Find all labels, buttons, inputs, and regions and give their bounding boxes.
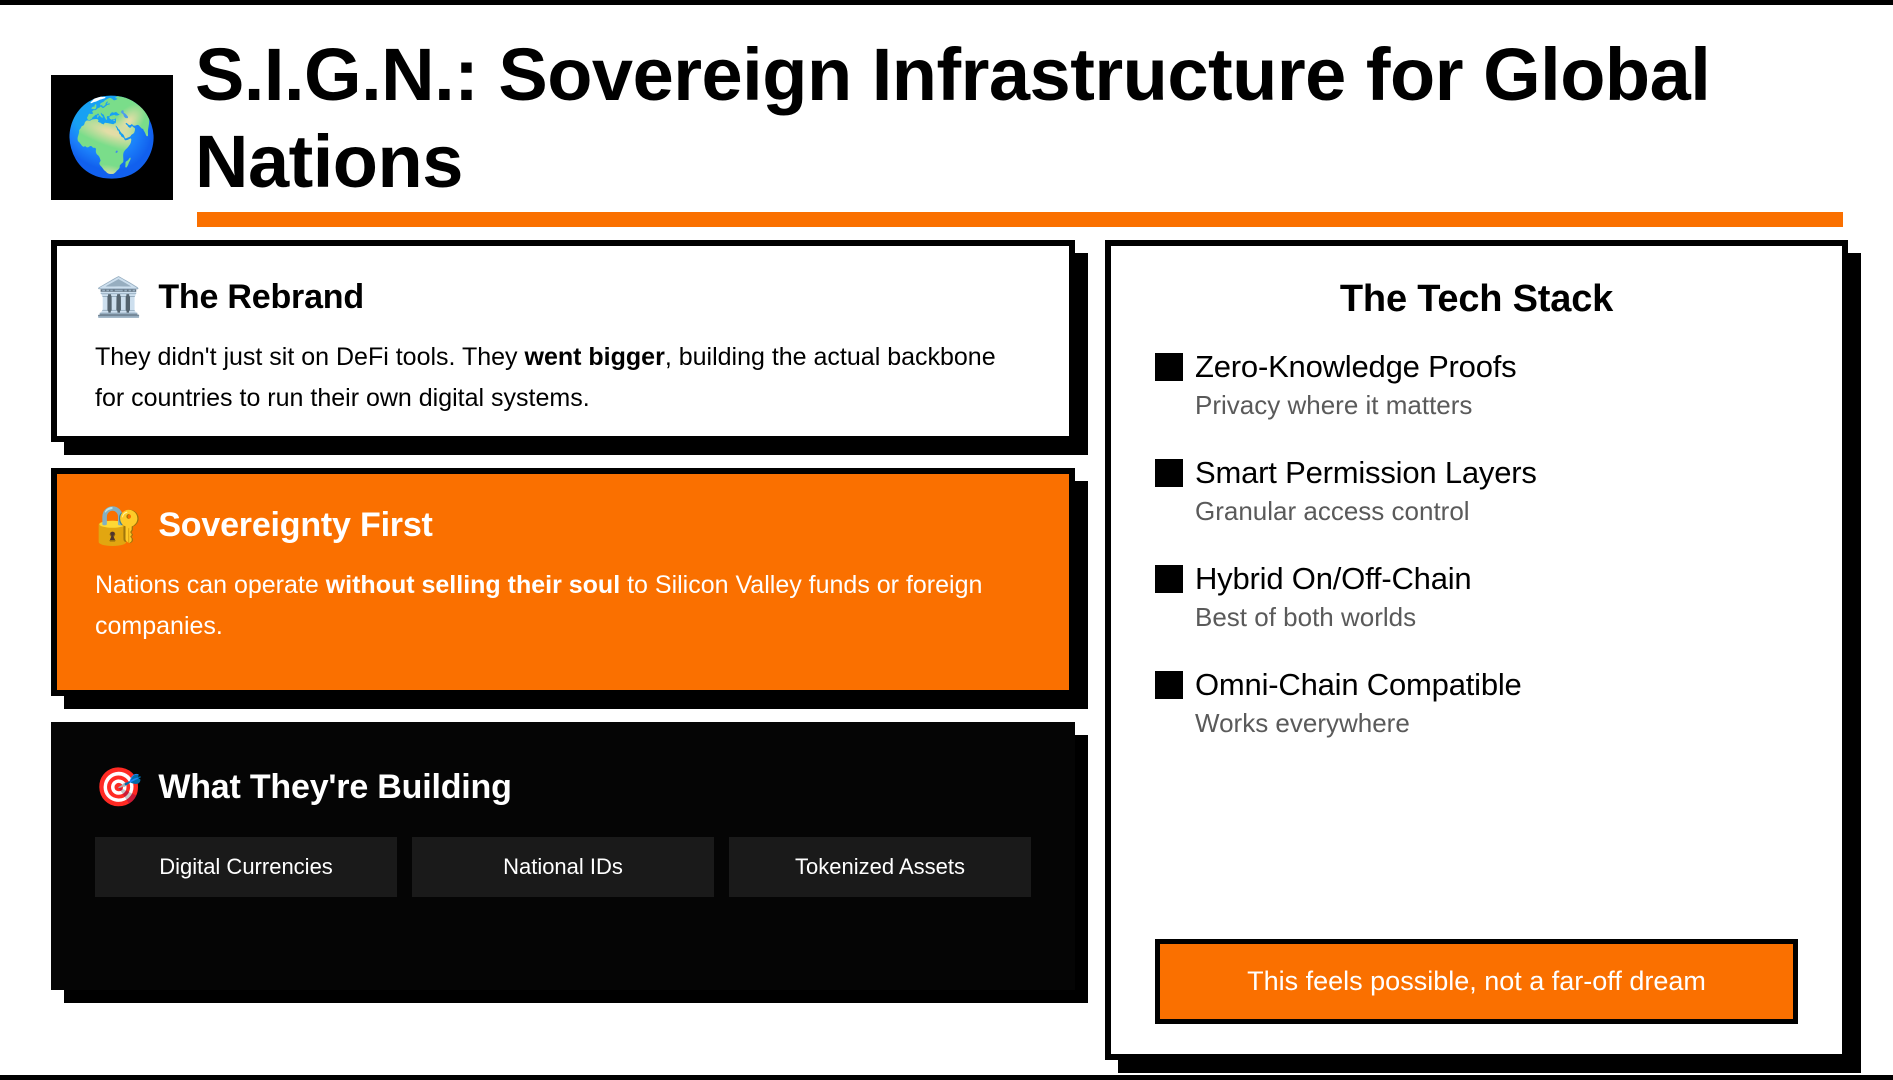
black-square-bullet-icon bbox=[1155, 671, 1183, 699]
card-what-theyre-building: 🎯 What They're Building Digital Currenci… bbox=[51, 722, 1075, 990]
tech-item-name-zero-knowledge-proofs: Zero-Knowledge Proofs bbox=[1195, 349, 1516, 385]
tech-item-head-1: Smart Permission Layers bbox=[1155, 455, 1798, 491]
card-body-rebrand: They didn't just sit on DeFi tools. They… bbox=[95, 337, 1031, 418]
tech-item-head-3: Omni-Chain Compatible bbox=[1155, 667, 1798, 703]
card-header-sovereignty: 🔐 Sovereignty First bbox=[95, 506, 1031, 545]
sovereignty-text-emphasis: without selling their soul bbox=[326, 571, 620, 599]
globe-emoji: 🌍 bbox=[51, 75, 173, 200]
black-square-bullet-icon bbox=[1155, 353, 1183, 381]
tech-stack-callout-banner: This feels possible, not a far-off dream bbox=[1155, 939, 1798, 1024]
black-square-bullet-icon bbox=[1155, 565, 1183, 593]
tech-item-name-smart-permission-layers: Smart Permission Layers bbox=[1195, 455, 1537, 491]
tech-item-head-0: Zero-Knowledge Proofs bbox=[1155, 349, 1798, 385]
list-item[interactable]: Smart Permission Layers Granular access … bbox=[1155, 455, 1798, 527]
locked-with-key-emoji: 🔐 bbox=[95, 507, 142, 545]
title-underline-bar bbox=[197, 212, 1843, 227]
sovereignty-text-lead: Nations can operate bbox=[95, 571, 326, 599]
building-chip-list: Digital Currencies National IDs Tokenize… bbox=[95, 837, 1031, 897]
tech-item-name-hybrid-on-off-chain: Hybrid On/Off-Chain bbox=[1195, 561, 1471, 597]
card-the-rebrand: 🏛️ The Rebrand They didn't just sit on D… bbox=[51, 240, 1075, 442]
card-sovereignty-first: 🔐 Sovereignty First Nations can operate … bbox=[51, 468, 1075, 696]
tech-item-desc-zero-knowledge-proofs: Privacy where it matters bbox=[1195, 390, 1798, 421]
main-columns: 🏛️ The Rebrand They didn't just sit on D… bbox=[0, 240, 1893, 1060]
card-header-building: 🎯 What They're Building bbox=[95, 768, 1031, 807]
chip-tokenized-assets[interactable]: Tokenized Assets bbox=[729, 837, 1031, 897]
rebrand-text-lead: They didn't just sit on DeFi tools. They bbox=[95, 343, 525, 371]
tech-item-desc-hybrid-on-off-chain: Best of both worlds bbox=[1195, 602, 1798, 633]
page-header: 🌍 S.I.G.N.: Sovereign Infrastructure for… bbox=[0, 5, 1893, 240]
chip-national-ids[interactable]: National IDs bbox=[412, 837, 714, 897]
card-title-building: What They're Building bbox=[158, 768, 511, 807]
card-title-rebrand: The Rebrand bbox=[158, 278, 364, 317]
black-square-bullet-icon bbox=[1155, 459, 1183, 487]
left-column: 🏛️ The Rebrand They didn't just sit on D… bbox=[51, 240, 1075, 1060]
list-item[interactable]: Zero-Knowledge Proofs Privacy where it m… bbox=[1155, 349, 1798, 421]
rebrand-text-emphasis: went bigger bbox=[525, 343, 665, 371]
tech-item-name-omni-chain-compatible: Omni-Chain Compatible bbox=[1195, 667, 1522, 703]
tech-stack-title: The Tech Stack bbox=[1155, 278, 1798, 321]
page-title: S.I.G.N.: Sovereign Infrastructure for G… bbox=[195, 23, 1843, 206]
classical-building-emoji: 🏛️ bbox=[95, 279, 142, 317]
card-title-sovereignty: Sovereignty First bbox=[158, 506, 432, 545]
card-tech-stack: The Tech Stack Zero-Knowledge Proofs Pri… bbox=[1105, 240, 1848, 1060]
bullseye-target-emoji: 🎯 bbox=[95, 769, 142, 807]
tech-stack-list: Zero-Knowledge Proofs Privacy where it m… bbox=[1155, 349, 1798, 935]
list-item[interactable]: Omni-Chain Compatible Works everywhere bbox=[1155, 667, 1798, 739]
card-header-rebrand: 🏛️ The Rebrand bbox=[95, 278, 1031, 317]
tech-item-desc-omni-chain-compatible: Works everywhere bbox=[1195, 708, 1798, 739]
right-column: The Tech Stack Zero-Knowledge Proofs Pri… bbox=[1105, 240, 1848, 1060]
header-row: 🌍 S.I.G.N.: Sovereign Infrastructure for… bbox=[0, 5, 1893, 227]
card-body-sovereignty: Nations can operate without selling thei… bbox=[95, 565, 1031, 646]
tech-item-desc-smart-permission-layers: Granular access control bbox=[1195, 496, 1798, 527]
tech-item-head-2: Hybrid On/Off-Chain bbox=[1155, 561, 1798, 597]
list-item[interactable]: Hybrid On/Off-Chain Best of both worlds bbox=[1155, 561, 1798, 633]
chip-digital-currencies[interactable]: Digital Currencies bbox=[95, 837, 397, 897]
title-wrapper: S.I.G.N.: Sovereign Infrastructure for G… bbox=[195, 23, 1893, 227]
